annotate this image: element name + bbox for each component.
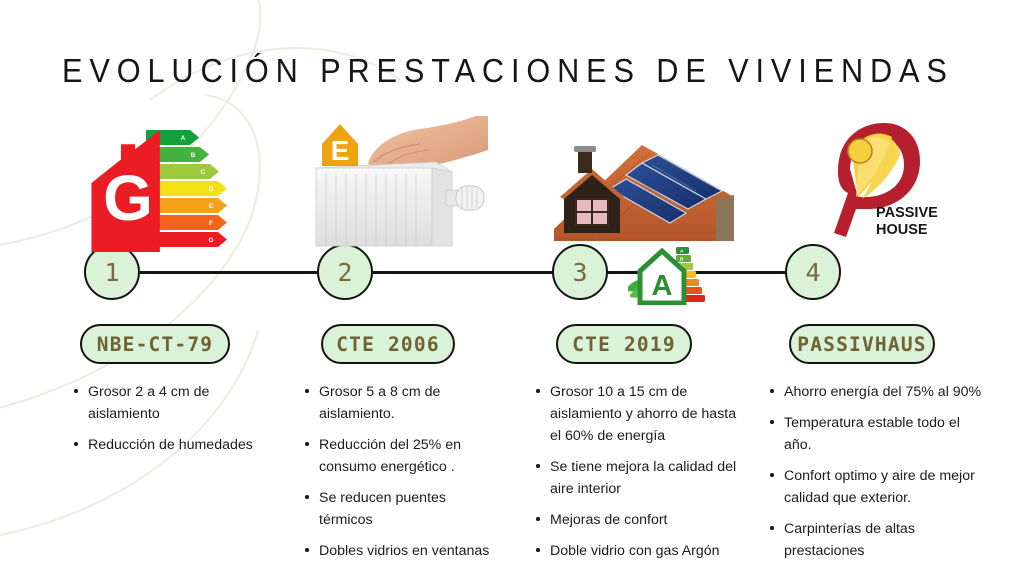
list-item: Grosor 10 a 15 cm de aislamiento y ahorr… bbox=[534, 381, 746, 447]
list-item: Se tiene mejora la calidad del aire inte… bbox=[534, 456, 746, 500]
list-item: Ahorro energía del 75% al 90% bbox=[768, 381, 983, 403]
svg-text:C: C bbox=[201, 169, 206, 176]
stage-label-2[interactable]: CTE 2006 bbox=[321, 324, 455, 364]
stage-label-4[interactable]: PASSIVHAUS bbox=[789, 324, 935, 364]
page-title: EVOLUCIÓN PRESTACIONES DE VIVIENDAS bbox=[62, 52, 954, 90]
passive-house-logo: PASSIVE HOUSE bbox=[800, 117, 950, 247]
list-item: Temperatura estable todo el año. bbox=[768, 412, 983, 456]
timeline-node-3[interactable]: 3 bbox=[552, 244, 608, 300]
list-item: Grosor 2 a 4 cm de aislamiento bbox=[72, 381, 262, 425]
timeline-node-2-number: 2 bbox=[337, 260, 352, 285]
svg-text:A: A bbox=[181, 135, 186, 142]
timeline-node-4[interactable]: 4 bbox=[785, 244, 841, 300]
stage-label-3-text: CTE 2019 bbox=[572, 333, 676, 356]
timeline-node-2[interactable]: 2 bbox=[317, 244, 373, 300]
svg-text:G: G bbox=[103, 162, 153, 234]
stage-label-2-text: CTE 2006 bbox=[336, 333, 440, 356]
svg-text:E: E bbox=[209, 203, 214, 210]
timeline-node-1[interactable]: 1 bbox=[84, 244, 140, 300]
list-item: Reducción del 25% en consumo energético … bbox=[303, 434, 503, 478]
stage-bullets-1: Grosor 2 a 4 cm de aislamiento Reducción… bbox=[72, 381, 262, 465]
infographic-canvas: EVOLUCIÓN PRESTACIONES DE VIVIENDAS 1 2 … bbox=[0, 0, 1024, 576]
timeline-node-1-number: 1 bbox=[104, 260, 119, 285]
svg-text:G: G bbox=[208, 237, 213, 244]
list-item: Confort optimo y aire de mejor calidad q… bbox=[768, 465, 983, 509]
passive-house-logo-line1: PASSIVE bbox=[876, 205, 938, 221]
list-item: Doble vidrio con gas Argón bbox=[534, 540, 746, 562]
svg-text:A: A bbox=[652, 270, 673, 302]
list-item: Se reducen puentes térmicos bbox=[303, 487, 503, 531]
list-item: Mejoras de confort bbox=[534, 509, 746, 531]
list-item: Reducción de humedades bbox=[72, 434, 262, 456]
svg-text:E: E bbox=[331, 135, 350, 166]
svg-text:B: B bbox=[191, 152, 196, 159]
stage-label-3[interactable]: CTE 2019 bbox=[556, 324, 692, 364]
passive-house-logo-line2: HOUSE bbox=[876, 222, 928, 238]
list-item: Carpinterías de altas prestaciones bbox=[768, 518, 983, 562]
stage-bullets-2: Grosor 5 a 8 cm de aislamiento. Reducció… bbox=[303, 381, 503, 571]
timeline-node-4-number: 4 bbox=[805, 260, 820, 285]
timeline-node-3-number: 3 bbox=[572, 260, 587, 285]
list-item: Dobles vidrios en ventanas bbox=[303, 540, 503, 562]
svg-text:F: F bbox=[209, 220, 213, 227]
stage-bullets-3: Grosor 10 a 15 cm de aislamiento y ahorr… bbox=[534, 381, 746, 571]
stage-label-4-text: PASSIVHAUS bbox=[797, 333, 926, 356]
energy-rating-chart-icon: A B C D E F G G bbox=[84, 126, 236, 252]
stage-label-1[interactable]: NBE-CT-79 bbox=[80, 324, 230, 364]
list-item: Grosor 5 a 8 cm de aislamiento. bbox=[303, 381, 503, 425]
radiator-photo: E bbox=[310, 106, 490, 252]
solar-panel-roof-photo bbox=[546, 137, 734, 249]
svg-text:D: D bbox=[209, 186, 214, 193]
stage-bullets-4: Ahorro energía del 75% al 90% Temperatur… bbox=[768, 381, 983, 571]
stage-label-1-text: NBE-CT-79 bbox=[97, 333, 213, 356]
energy-label-a-badge-icon: ABC DEF G A bbox=[626, 243, 710, 305]
